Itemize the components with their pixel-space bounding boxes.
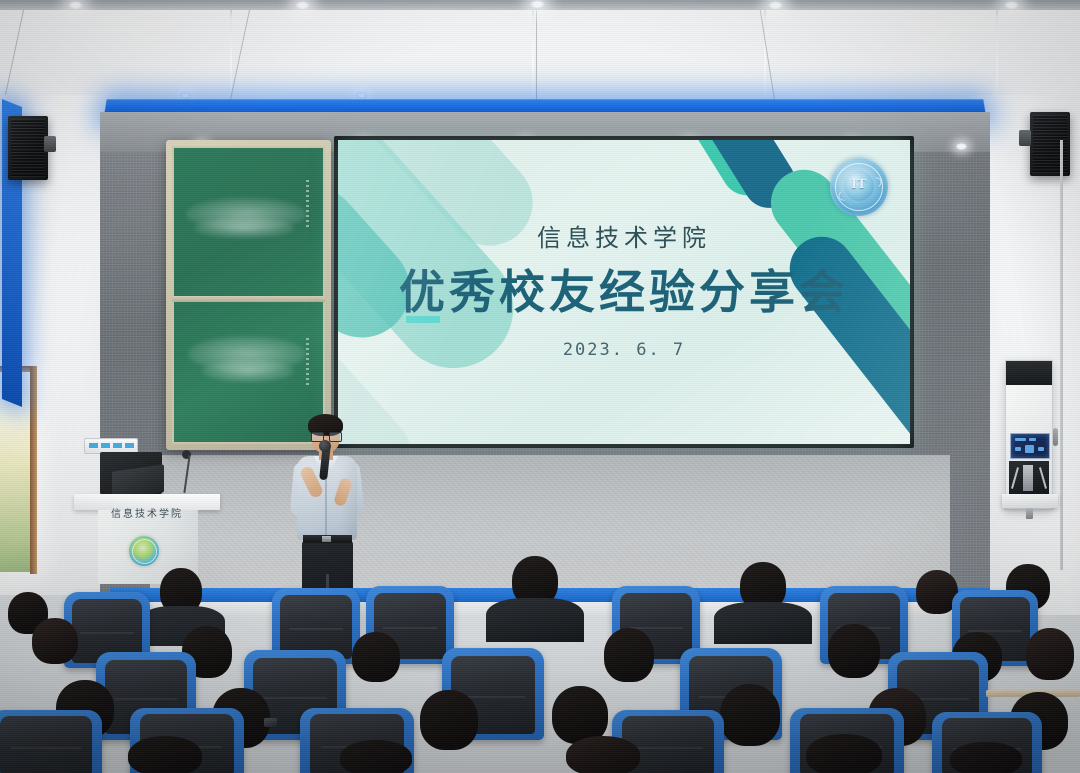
kiosk-touchscreen[interactable] [1010,433,1050,459]
ceiling-downlight [768,1,783,10]
wall-speaker-left [8,116,48,180]
chalkboard-surface [172,146,325,444]
audience-head [604,628,654,682]
ceiling-downlight [295,1,310,10]
audience-head [566,736,640,773]
chalkboard-divider [172,296,325,302]
door-handle[interactable] [1053,428,1058,446]
lecture-hall-photo: IT 信息技术学院 优秀校友经验分享会 2023. 6. 7 信息技术学院 [0,0,1080,773]
auditorium-seat[interactable] [0,710,102,773]
logo-text: IT [830,177,888,193]
audience-head [340,740,412,773]
audience-head [352,632,400,682]
kiosk-shelf [1002,494,1058,508]
kiosk-dispenser [1023,465,1033,491]
stage-downlight [956,143,967,150]
slide-subtitle: 信息技术学院 [338,218,910,253]
audience-head [720,684,780,746]
speaker-mount-left [44,136,56,152]
door-edge [1060,140,1063,570]
audience-head [950,742,1022,773]
audience-head [128,736,202,773]
slide-date: 2023. 6. 7 [338,340,910,360]
slide-title: 优秀校友经验分享会 [338,256,910,322]
audience-head [420,690,478,750]
wall-speaker-right [1030,112,1070,176]
smartphone[interactable] [264,718,277,727]
ceiling-downlight [530,0,545,9]
audience-shoulders [714,602,812,644]
audience-head [32,618,78,664]
speaker-grill [11,119,45,177]
podium-label: 信息技术学院 [74,505,220,520]
presentation-slide: IT 信息技术学院 优秀校友经验分享会 2023. 6. 7 [338,140,910,444]
audience-head [1026,628,1074,680]
ceiling-downlight [68,1,83,10]
kiosk-header [1006,361,1052,385]
audience-head [828,624,880,678]
college-logo-icon: IT [830,158,888,216]
ceiling-downlight [356,92,367,99]
audience-head [806,734,882,773]
kiosk-knob[interactable] [1026,508,1033,519]
chalkboard-tick-marks [306,338,309,388]
title-underline-accent [406,316,440,323]
audience-area [0,540,1080,773]
audience-shoulders [486,598,584,642]
ceiling-downlight [180,92,191,99]
wall-control-kiosk[interactable] [1005,360,1053,510]
presenter-microphone-head [319,440,331,452]
presenter-glasses-icon [311,432,340,440]
chalkboard [166,140,331,450]
chalkboard-tick-marks [306,180,309,230]
speaker-mount-right [1019,130,1031,146]
ceiling-downlight [1004,1,1019,10]
